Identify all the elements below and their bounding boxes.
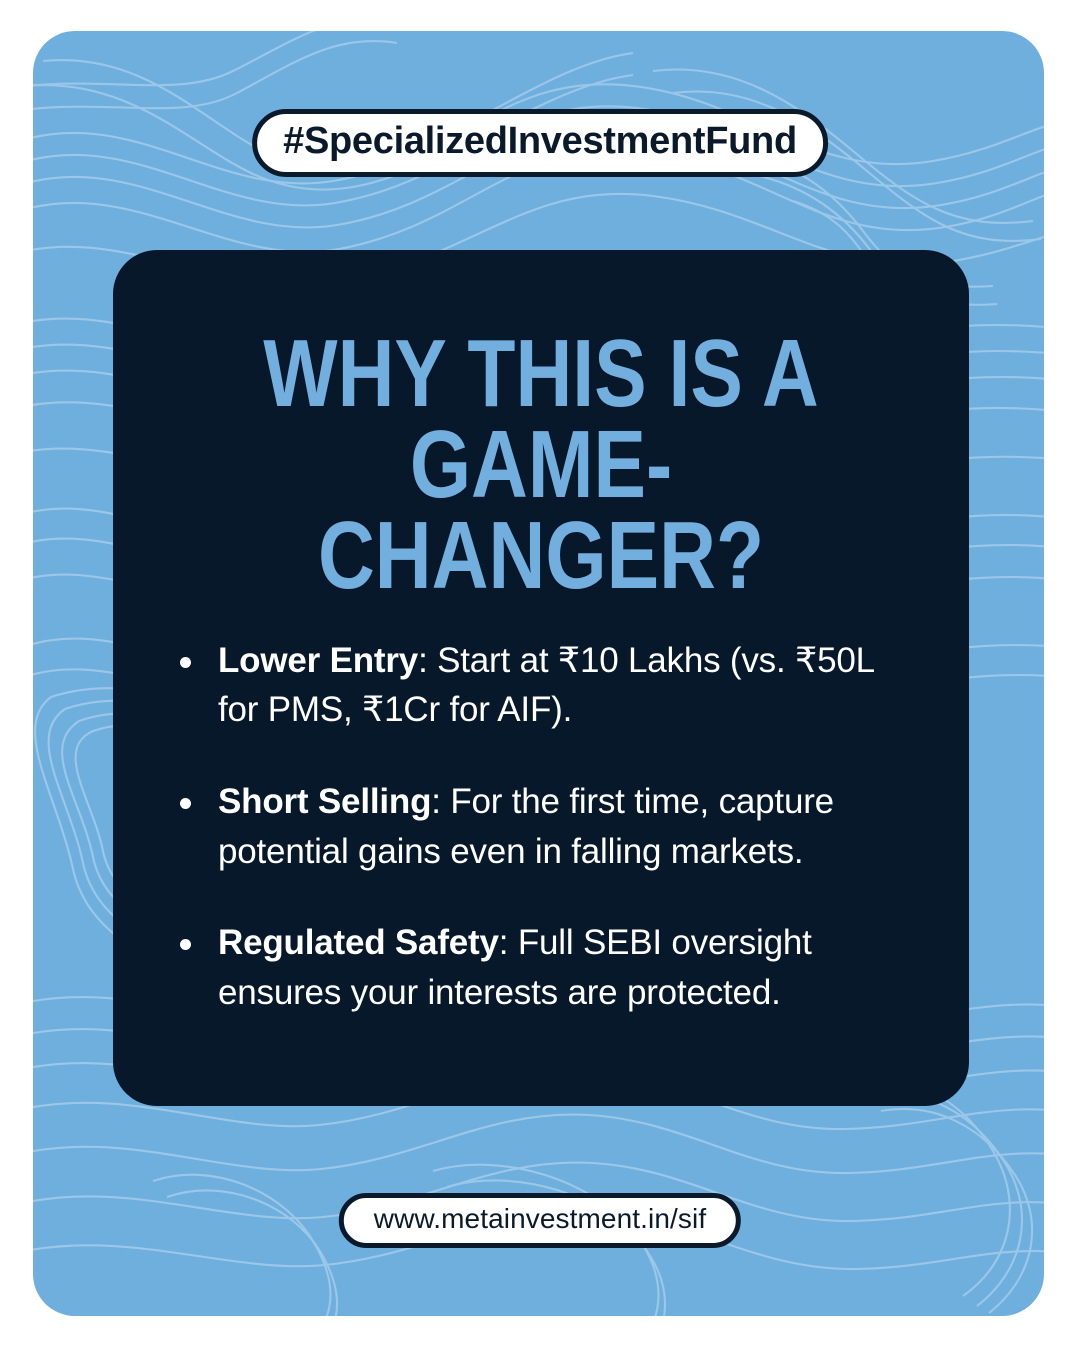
list-item-lead: Short Selling [218, 782, 431, 821]
list-item-lead: Regulated Safety [218, 923, 499, 962]
benefits-list: Lower Entry: Start at ₹10 Lakhs (vs. ₹50… [113, 602, 969, 1018]
poster-root: #SpecializedInvestmentFund WHY THIS IS A… [0, 0, 1080, 1350]
page-title: WHY THIS IS A GAME-CHANGER? [190, 250, 892, 602]
list-item: Regulated Safety: Full SEBI oversight en… [165, 918, 917, 1017]
list-item-separator: : [499, 923, 518, 962]
bullet-dot-icon [180, 798, 191, 809]
hashtag-pill: #SpecializedInvestmentFund [252, 109, 828, 177]
list-item-separator: : [418, 641, 437, 680]
bullet-dot-icon [180, 657, 191, 668]
list-item-lead: Lower Entry [218, 641, 418, 680]
list-item-separator: : [431, 782, 450, 821]
website-url-label: www.metainvestment.in/sif [374, 1203, 706, 1235]
list-item: Short Selling: For the first time, captu… [165, 777, 917, 876]
list-item: Lower Entry: Start at ₹10 Lakhs (vs. ₹50… [165, 636, 917, 735]
content-card: WHY THIS IS A GAME-CHANGER? Lower Entry:… [113, 250, 969, 1106]
website-url-pill[interactable]: www.metainvestment.in/sif [339, 1193, 741, 1248]
bullet-dot-icon [180, 939, 191, 950]
hashtag-label: #SpecializedInvestmentFund [283, 120, 797, 163]
